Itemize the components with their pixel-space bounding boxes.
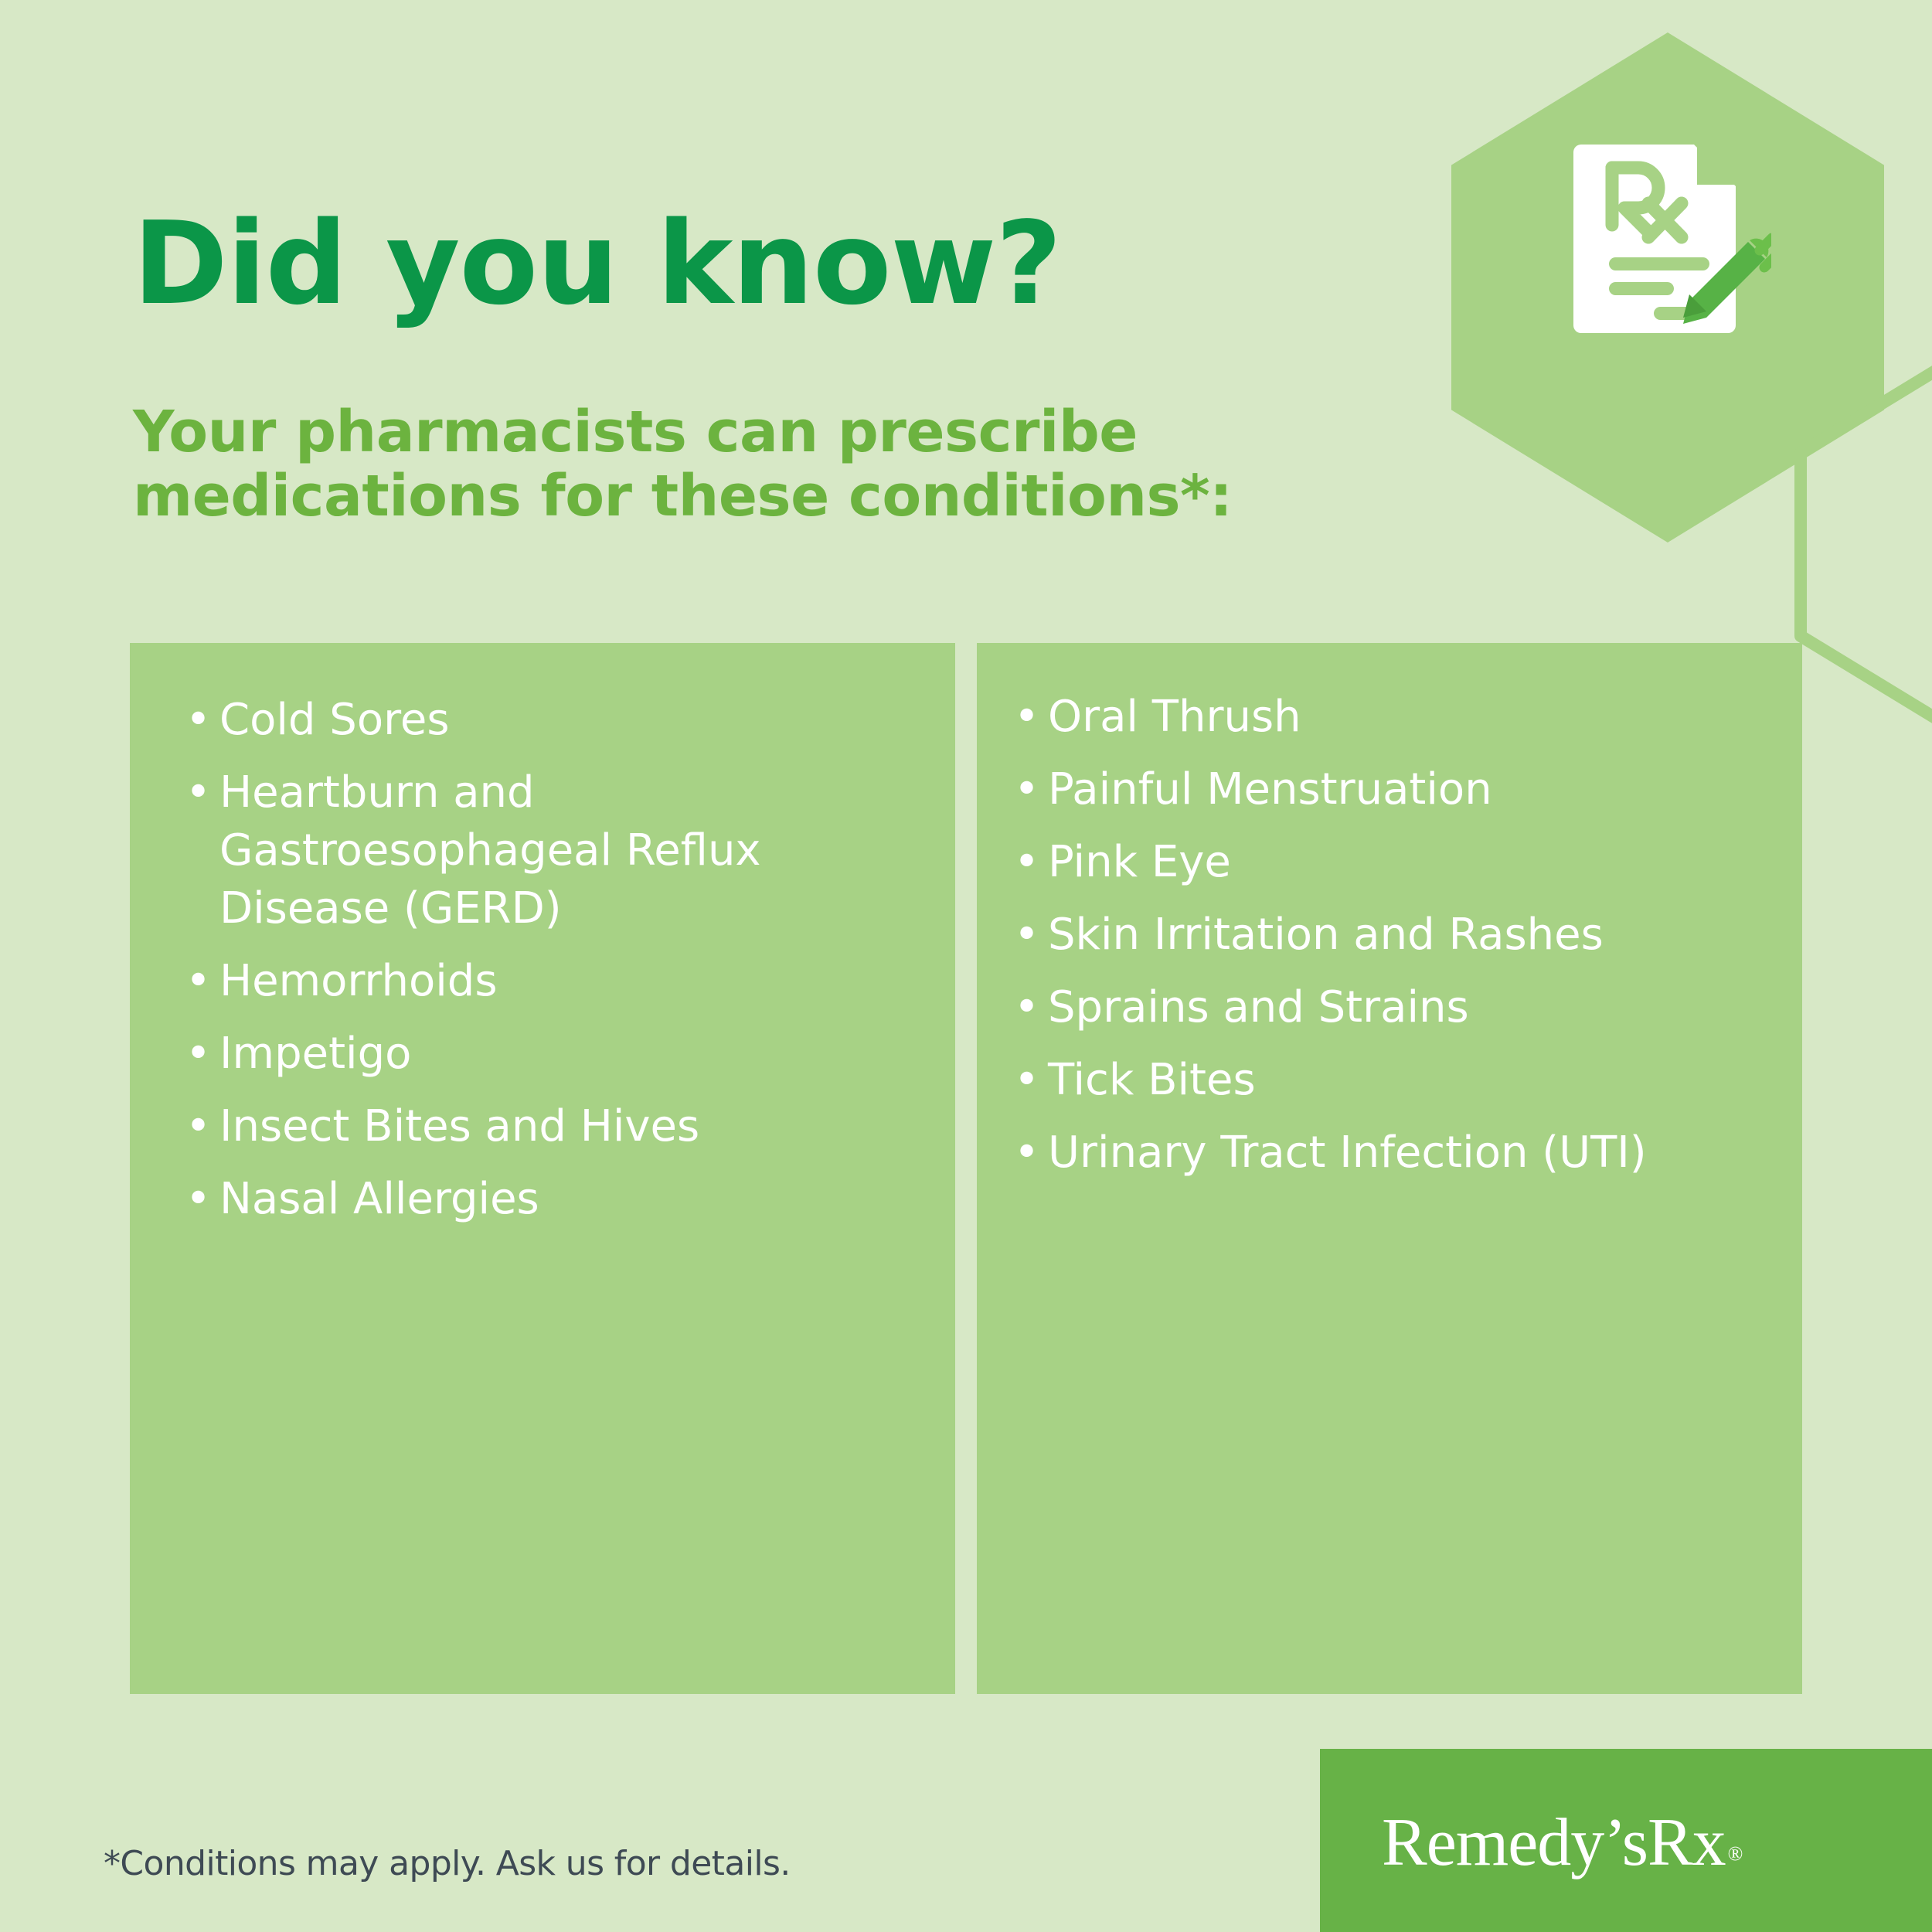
brand-logo-wordmark: Remedy’sRx® [1382,1809,1742,1877]
poster-canvas: Did you know? Your pharmacists can presc… [0,0,1932,1932]
bullet-icon: • [1014,688,1048,746]
list-item-label: Hemorrhoids [219,956,498,1006]
list-item-label: Heartburn and Gastroesophageal Reflux Di… [219,767,761,934]
bullet-icon: • [1014,760,1048,818]
list-item-label: Skin Irritation and Rashes [1048,910,1604,960]
bullet-icon: • [185,1025,219,1083]
list-item-label: Pink Eye [1048,837,1231,887]
bullet-icon: • [185,952,219,1010]
bullet-icon: • [185,1097,219,1155]
list-item: • Pink Eye [1014,833,1771,891]
conditions-list-right: • Oral Thrush • Painful Menstruation • P… [977,643,1802,1182]
subtitle-line-1: Your pharmacists can prescribe [133,399,1138,465]
list-item: • Insect Bites and Hives [185,1097,924,1155]
bullet-icon: • [1014,1051,1048,1109]
list-item-label: Painful Menstruation [1048,764,1492,815]
brand-name: Remedy’sRx [1382,1805,1726,1880]
subtitle-line-2: medications for these conditions*: [133,463,1232,529]
bullet-icon: • [185,691,219,749]
bullet-icon: • [1014,1124,1048,1182]
brand-logo-bar: Remedy’sRx® [1320,1749,1932,1932]
footnote-text: *Conditions may apply. Ask us for detail… [104,1844,791,1883]
list-item: • Sprains and Strains [1014,978,1771,1036]
list-item-label: Tick Bites [1048,1055,1256,1105]
list-item: • Oral Thrush [1014,688,1771,746]
list-item-label: Nasal Allergies [219,1174,539,1224]
list-item: • Cold Sores [185,691,924,749]
list-item-label: Sprains and Strains [1048,982,1469,1032]
list-item-label: Cold Sores [219,695,450,745]
list-item: • Impetigo [185,1025,924,1083]
list-item: • Tick Bites [1014,1051,1771,1109]
bullet-icon: • [1014,978,1048,1036]
page-title: Did you know? [133,206,1061,321]
conditions-panel-left: • Cold Sores • Heartburn and Gastroesoph… [130,643,955,1694]
list-item: • Hemorrhoids [185,952,924,1010]
bullet-icon: • [185,764,219,821]
list-item: • Skin Irritation and Rashes [1014,906,1771,964]
list-item-label: Insect Bites and Hives [219,1101,699,1151]
list-item-label: Urinary Tract Infection (UTI) [1048,1128,1647,1178]
hexagon-outline-icon [1794,349,1932,740]
list-item: • Urinary Tract Infection (UTI) [1014,1124,1771,1182]
prescription-document-pen-icon [1569,143,1771,336]
list-item: • Heartburn and Gastroesophageal Reflux … [185,764,924,937]
conditions-panel-right: • Oral Thrush • Painful Menstruation • P… [977,643,1802,1694]
bullet-icon: • [1014,906,1048,964]
list-item: • Painful Menstruation [1014,760,1771,818]
bullet-icon: • [185,1170,219,1228]
page-subtitle: Your pharmacists can prescribe medicatio… [133,400,1253,529]
registered-trademark-icon: ® [1728,1842,1743,1865]
list-item-label: Impetigo [219,1029,411,1079]
list-item: • Nasal Allergies [185,1170,924,1228]
list-item-label: Oral Thrush [1048,692,1301,742]
bullet-icon: • [1014,833,1048,891]
conditions-list-left: • Cold Sores • Heartburn and Gastroesoph… [130,643,955,1228]
